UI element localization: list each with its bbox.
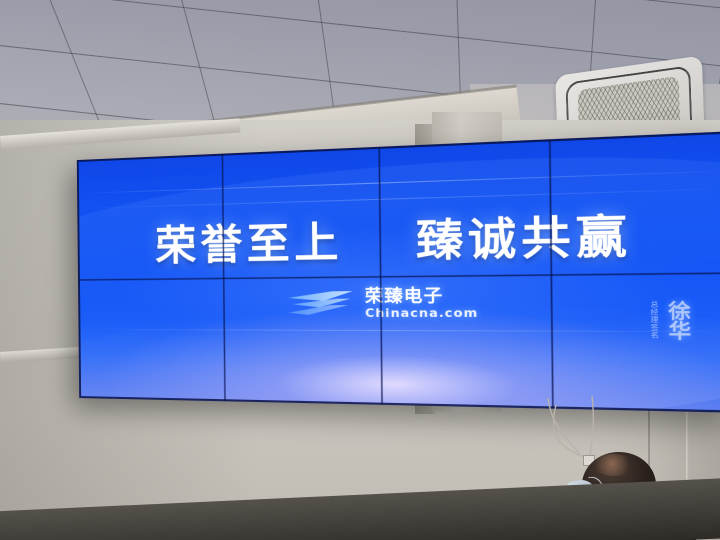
signature-caption: 总经理签名 (647, 301, 659, 340)
headline-left-text: 荣誉至上 (155, 217, 343, 270)
person-scalp-highlight (594, 454, 634, 476)
photo-scene: 荣誉至上 臻诚共赢 荣臻电子 Chinacna.com 总经理签名 (0, 0, 720, 540)
signature-name: 徐华 (664, 300, 687, 340)
chevron-arrow-logo-icon (286, 289, 355, 317)
headline-right-text: 臻诚共赢 (416, 209, 633, 266)
screen-signature: 总经理签名 徐华 (647, 300, 687, 340)
screen-brand-row: 荣臻电子 Chinacna.com (78, 285, 720, 319)
lcd-video-wall[interactable]: 荣誉至上 臻诚共赢 荣臻电子 Chinacna.com 总经理签名 (77, 131, 720, 413)
